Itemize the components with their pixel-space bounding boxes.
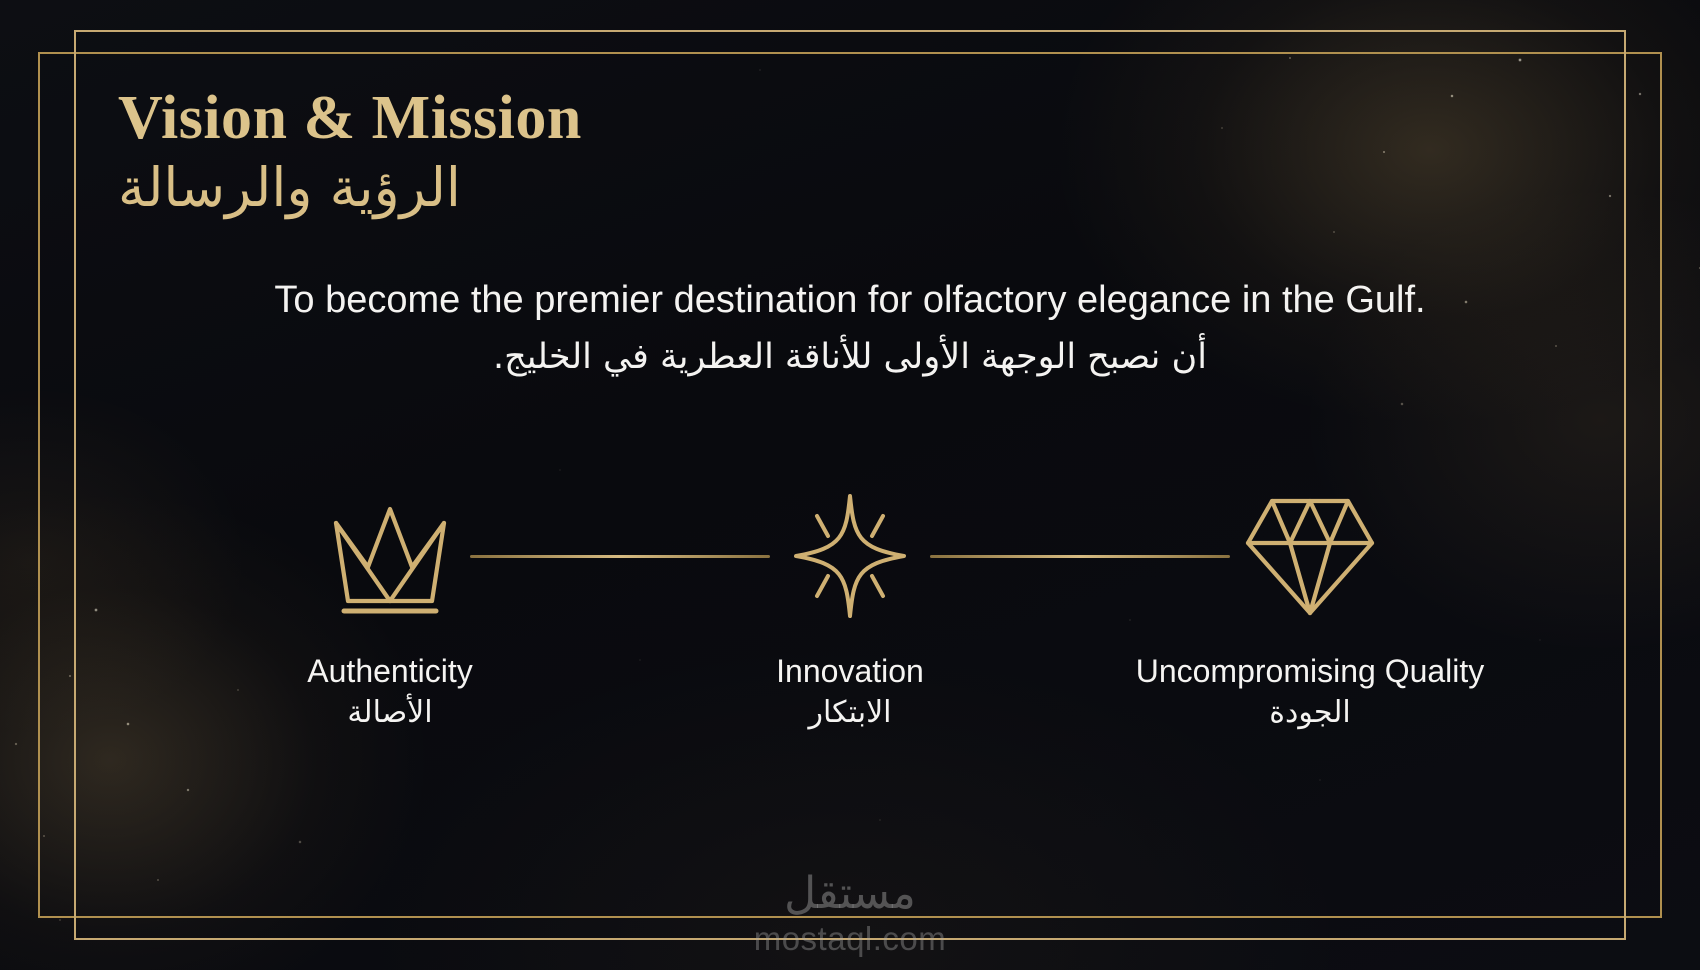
pillar-label-ar-innovation: الابتكار — [620, 694, 1080, 732]
connector-line-right — [930, 555, 1230, 558]
sparkle-icon — [784, 490, 916, 622]
pillar-label-authenticity: Authenticity الأصالة — [160, 652, 620, 732]
connector-line-left — [470, 555, 770, 558]
pillar-label-ar-authenticity: الأصالة — [160, 694, 620, 732]
pillar-icon-cell-innovation — [770, 490, 930, 622]
pillar-label-ar-quality: الجودة — [1080, 694, 1540, 732]
page-title-ar: الرؤية والرسالة — [118, 157, 1582, 219]
slide-content: Vision & Mission الرؤية والرسالة To beco… — [118, 86, 1582, 910]
pillar-label-en-innovation: Innovation — [620, 652, 1080, 690]
crown-icon — [324, 497, 456, 615]
core-values-section: Authenticity الأصالة Innovation الابتكار… — [118, 486, 1582, 732]
vision-statement: To become the premier destination for ol… — [118, 277, 1582, 380]
vision-statement-en: To become the premier destination for ol… — [118, 277, 1582, 325]
vision-statement-ar: أن نصبح الوجهة الأولى للأناقة العطرية في… — [118, 335, 1582, 381]
pillar-label-innovation: Innovation الابتكار — [620, 652, 1080, 732]
page-title-en: Vision & Mission — [118, 86, 1582, 151]
core-values-label-row: Authenticity الأصالة Innovation الابتكار… — [118, 652, 1582, 732]
pillar-label-en-quality: Uncompromising Quality — [1080, 652, 1540, 690]
pillar-icon-cell-quality — [1230, 493, 1390, 619]
pillar-label-en-authenticity: Authenticity — [160, 652, 620, 690]
pillar-label-quality: Uncompromising Quality الجودة — [1080, 652, 1540, 732]
core-values-icon-row — [118, 486, 1582, 626]
diamond-icon — [1242, 493, 1378, 619]
vision-mission-slide: Vision & Mission الرؤية والرسالة To beco… — [0, 0, 1700, 970]
pillar-icon-cell-authenticity — [310, 497, 470, 615]
